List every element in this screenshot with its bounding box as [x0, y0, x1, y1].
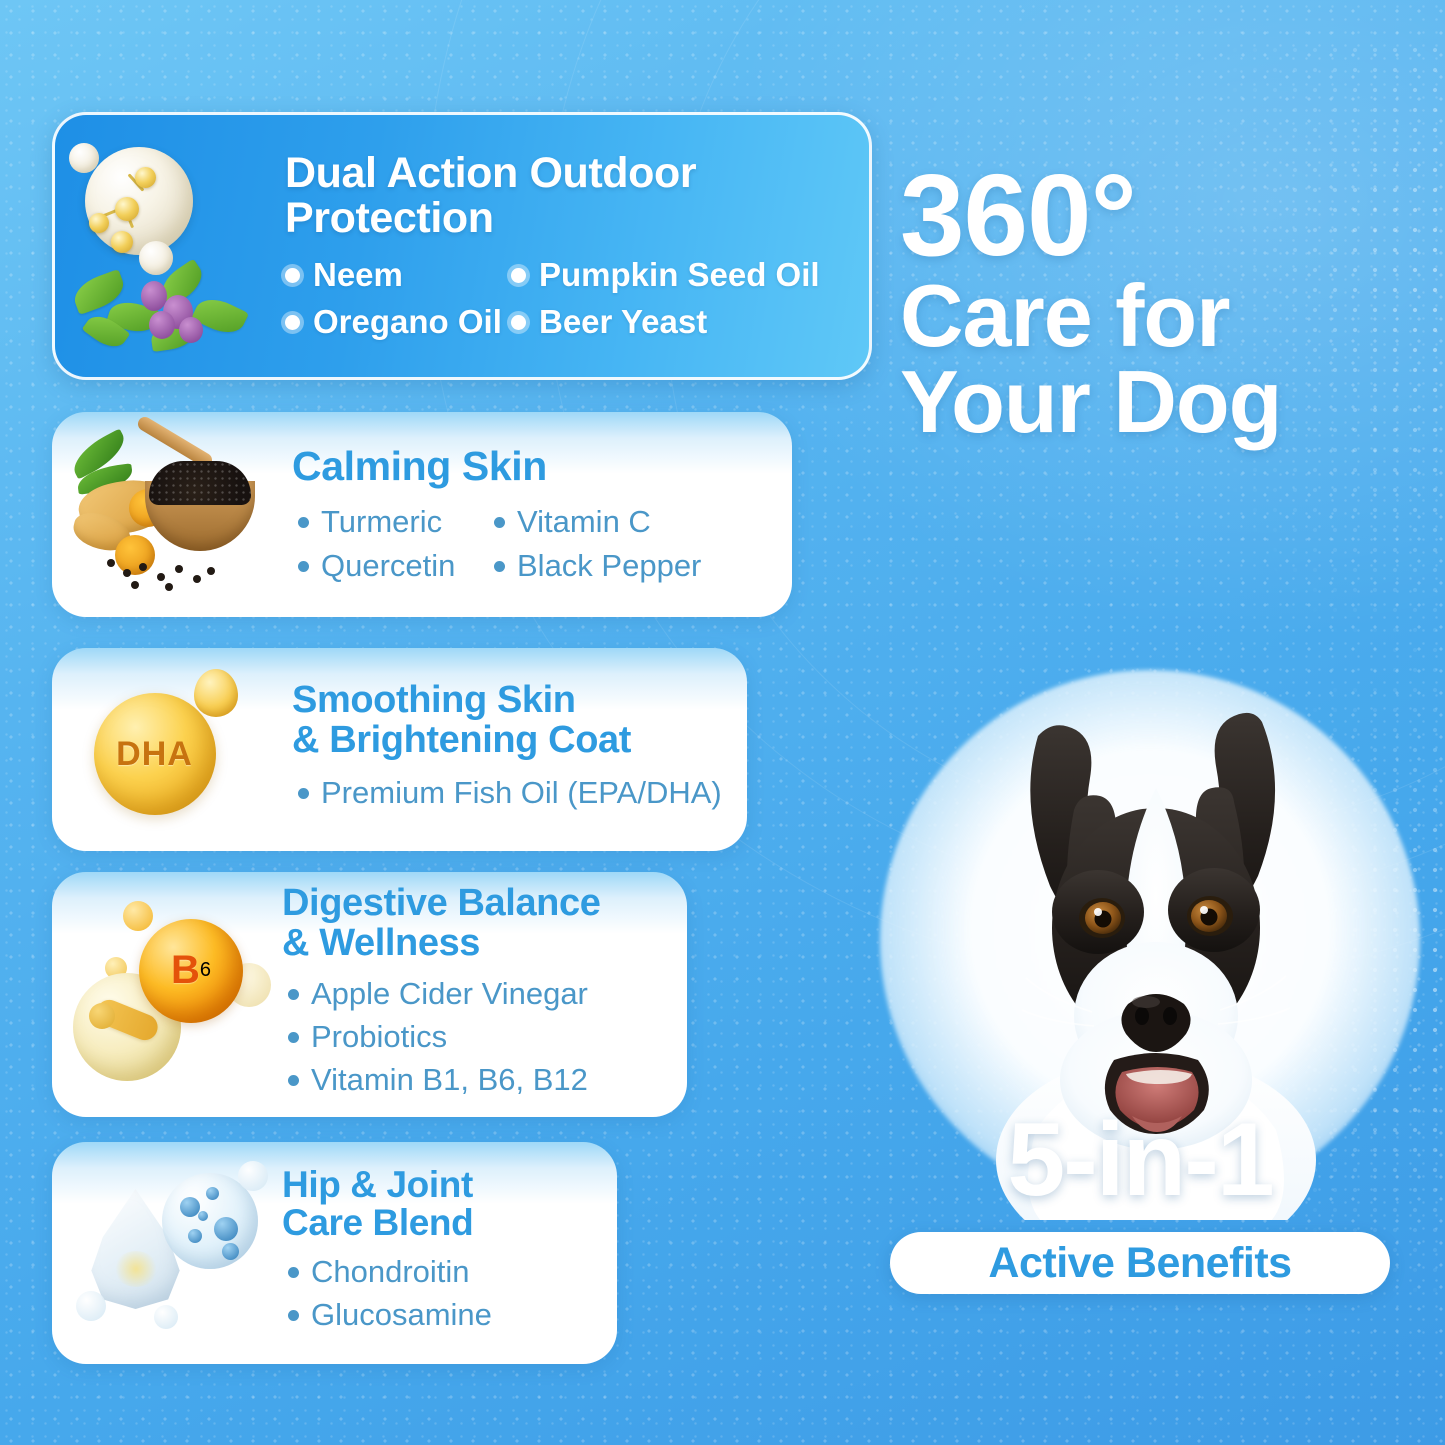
ingredient-list: Premium Fish Oil (EPA/DHA): [292, 775, 729, 811]
card-title: Digestive Balance & Wellness: [282, 884, 669, 963]
list-item: Chondroitin: [282, 1254, 599, 1290]
ingredient-label: Chondroitin: [311, 1254, 470, 1290]
bullet-icon: [298, 788, 309, 799]
card-body: Calming Skin Turmeric Vitamin C Querceti…: [292, 445, 792, 584]
status-badge[interactable]: Active Benefits: [890, 1232, 1390, 1294]
ingredient-label: Turmeric: [321, 504, 442, 540]
ingredient-list: Chondroitin Glucosamine: [282, 1254, 599, 1333]
bullet-icon: [288, 989, 299, 1000]
bullet-icon: [288, 1032, 299, 1043]
headline-line-1: 360°: [900, 160, 1445, 270]
bullet-icon: [288, 1310, 299, 1321]
list-item: Vitamin C: [488, 504, 774, 540]
bullet-icon: [494, 517, 505, 528]
ingredient-label: Beer Yeast: [539, 303, 707, 341]
card-title: Calming Skin: [292, 445, 774, 488]
bullet-icon: [288, 1075, 299, 1086]
vitamin-b6-capsule-icon: B6: [52, 872, 282, 1117]
card-title: Hip & Joint Care Blend: [282, 1166, 599, 1243]
list-item: Turmeric: [292, 504, 488, 540]
list-item: Neem: [285, 256, 507, 294]
ingredient-label: Apple Cider Vinegar: [311, 976, 588, 1012]
card-body: Smoothing Skin & Brightening Coat Premiu…: [292, 681, 747, 817]
bullet-icon: [494, 561, 505, 572]
bullet-icon: [288, 1267, 299, 1278]
card-title-line-1: Digestive Balance: [282, 882, 600, 924]
bullet-icon: [285, 268, 300, 283]
dha-capsule-label: DHA: [116, 735, 193, 774]
molecule-bubble-herbs-icon: [55, 115, 285, 377]
benefit-card-digestive-balance-wellness[interactable]: B6 Digestive Balance & Wellness Apple Ci…: [52, 872, 687, 1117]
badge-count: 5-in-1: [860, 1108, 1420, 1212]
card-body: Hip & Joint Care Blend Chondroitin Gluco…: [282, 1166, 617, 1341]
bullet-icon: [298, 517, 309, 528]
ingredient-label: Premium Fish Oil (EPA/DHA): [321, 775, 722, 811]
list-item: Beer Yeast: [511, 303, 851, 341]
list-item: Glucosamine: [282, 1297, 599, 1333]
bullet-icon: [511, 268, 526, 283]
ingredient-label: Glucosamine: [311, 1297, 492, 1333]
list-item: Black Pepper: [488, 548, 774, 584]
benefit-card-smoothing-skin-brightening-coat[interactable]: DHA Smoothing Skin & Brightening Coat Pr…: [52, 648, 747, 851]
ingredient-label: Probiotics: [311, 1019, 447, 1055]
card-title-line-1: Hip & Joint: [282, 1164, 473, 1205]
card-title-line-2: & Brightening Coat: [292, 719, 631, 761]
card-body: Dual Action Outdoor Protection Neem Pump…: [285, 151, 869, 341]
turmeric-black-pepper-icon: [52, 412, 292, 617]
ingredient-list: Apple Cider Vinegar Probiotics Vitamin B…: [282, 976, 669, 1098]
bullet-icon: [285, 315, 300, 330]
bullet-icon: [298, 561, 309, 572]
water-drop-molecule-icon: [52, 1142, 282, 1364]
hero-panel: 360° Care for Your Dog: [880, 0, 1445, 1445]
ingredient-label: Quercetin: [321, 548, 455, 584]
list-item: Oregano Oil: [285, 303, 507, 341]
list-item: Vitamin B1, B6, B12: [282, 1062, 669, 1098]
badge-label: Active Benefits: [988, 1239, 1291, 1288]
list-item: Probiotics: [282, 1019, 669, 1055]
card-body: Digestive Balance & Wellness Apple Cider…: [282, 884, 687, 1104]
list-item: Quercetin: [292, 548, 488, 584]
ingredient-list: Neem Pumpkin Seed Oil Oregano Oil Beer Y…: [285, 256, 851, 341]
b6-capsule-label: B: [171, 948, 200, 993]
list-item: Apple Cider Vinegar: [282, 976, 669, 1012]
card-title: Smoothing Skin & Brightening Coat: [292, 681, 729, 760]
list-item: Premium Fish Oil (EPA/DHA): [292, 775, 729, 811]
dha-capsule-icon: DHA: [52, 648, 292, 851]
ingredient-label: Black Pepper: [517, 548, 701, 584]
ingredient-label: Oregano Oil: [313, 303, 502, 341]
benefit-card-hip-joint-care-blend[interactable]: Hip & Joint Care Blend Chondroitin Gluco…: [52, 1142, 617, 1364]
benefit-card-calming-skin[interactable]: Calming Skin Turmeric Vitamin C Querceti…: [52, 412, 792, 617]
infographic-canvas: Dual Action Outdoor Protection Neem Pump…: [0, 0, 1445, 1445]
benefit-card-list: Dual Action Outdoor Protection Neem Pump…: [0, 0, 900, 1445]
headline-line-3: Your Dog: [900, 360, 1445, 444]
ingredient-label: Vitamin C: [517, 504, 651, 540]
card-title-line-2: & Wellness: [282, 922, 480, 964]
benefit-card-dual-action-outdoor-protection[interactable]: Dual Action Outdoor Protection Neem Pump…: [52, 112, 872, 380]
headline-line-2: Care for: [900, 274, 1445, 358]
ingredient-label: Vitamin B1, B6, B12: [311, 1062, 588, 1098]
hero-dog-image: 5-in-1 Active Benefits: [850, 640, 1445, 1320]
page-title: 360° Care for Your Dog: [900, 160, 1445, 443]
ingredient-label: Pumpkin Seed Oil: [539, 256, 820, 294]
card-title: Dual Action Outdoor Protection: [285, 151, 851, 240]
card-title-line-1: Smoothing Skin: [292, 679, 576, 721]
ingredient-list: Turmeric Vitamin C Quercetin Black Peppe…: [292, 504, 774, 584]
b6-capsule-superscript: 6: [200, 959, 211, 982]
list-item: Pumpkin Seed Oil: [511, 256, 851, 294]
ingredient-label: Neem: [313, 256, 403, 294]
bullet-icon: [511, 315, 526, 330]
card-title-line-2: Care Blend: [282, 1202, 473, 1243]
